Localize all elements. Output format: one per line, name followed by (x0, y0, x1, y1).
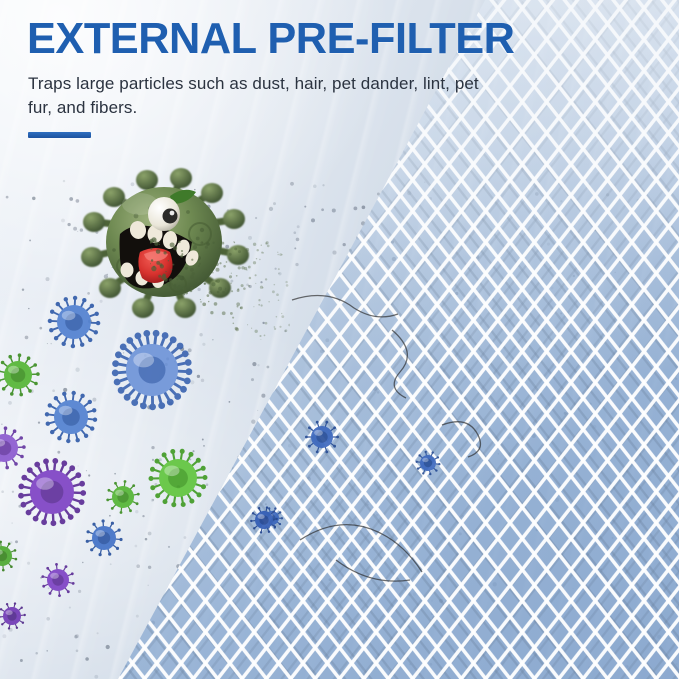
green-germ-monster (78, 160, 250, 320)
page-title: EXTERNAL PRE-FILTER (27, 16, 638, 62)
header-block: EXTERNAL PRE-FILTER Traps large particle… (27, 16, 647, 119)
page-subtitle: Traps large particles such as dust, hair… (28, 72, 498, 119)
infographic-panel: EXTERNAL PRE-FILTER Traps large particle… (0, 0, 679, 679)
accent-rule (28, 132, 91, 138)
